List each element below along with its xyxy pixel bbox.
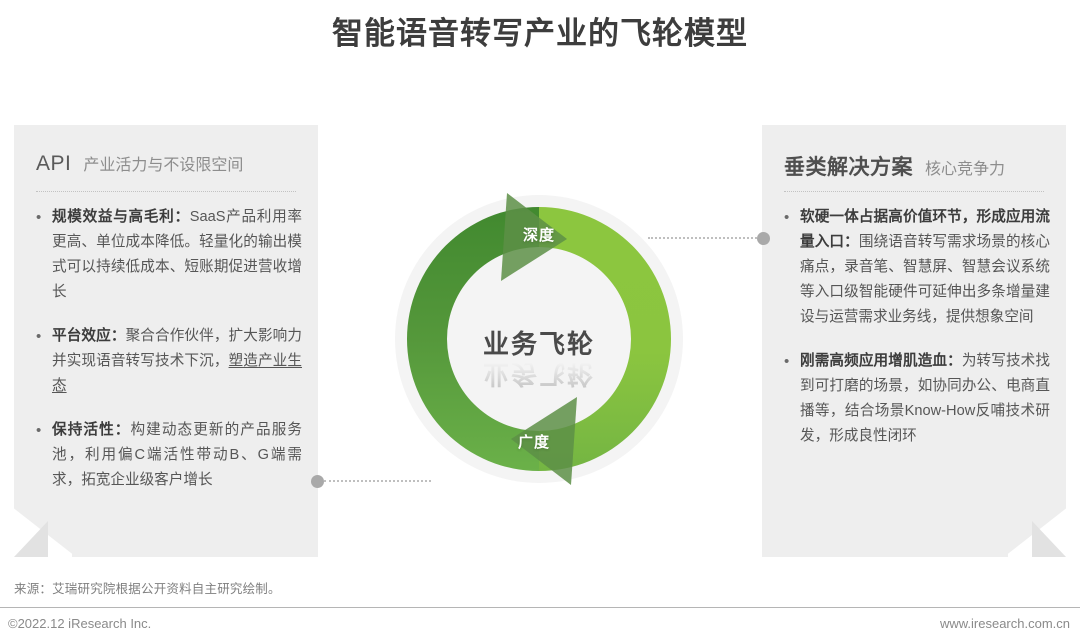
bullet-lead: 规模效益与高毛利： [52, 209, 190, 225]
right-panel-heading-main: 垂类解决方案 [784, 151, 913, 181]
connector-dot-icon [311, 475, 324, 488]
left-panel-divider [36, 191, 296, 192]
bullet-text: 平台效应：聚合合作伙伴，扩大影响力并实现语音转写技术下沉，塑造产业生态 [52, 324, 302, 399]
bullet-text: 规模效益与高毛利：SaaS产品利用率更高、单位成本降低。轻量化的输出模式可以持续… [52, 205, 302, 305]
left-panel-heading-main: API [36, 152, 71, 176]
flywheel-bottom-arrow-label: 广度 [494, 431, 574, 452]
slide-canvas: 智能语音转写产业的飞轮模型 API 产业活力与不设限空间 • 规模效益与高毛利：… [0, 0, 1080, 643]
copyright-text: ©2022.12 iResearch Inc. [8, 616, 151, 631]
left-panel-heading-sub: 产业活力与不设限空间 [83, 151, 243, 175]
bullet-marker-icon: • [36, 324, 52, 399]
bullet-text: 保持活性：构建动态更新的产品服务池，利用偏C端活性带动B、G端需求，拓宽企业级客… [52, 418, 302, 493]
bullet-lead: 保持活性： [52, 422, 130, 438]
bullet-marker-icon: • [784, 349, 800, 449]
panel-corner-fold [1008, 499, 1066, 557]
connector-dot-icon [757, 232, 770, 245]
left-panel-bullet-list: • 规模效益与高毛利：SaaS产品利用率更高、单位成本降低。轻量化的输出模式可以… [36, 205, 302, 512]
footer-divider [0, 607, 1080, 608]
website-link[interactable]: www.iresearch.com.cn [940, 616, 1070, 631]
right-panel-header: 垂类解决方案 核心竞争力 [784, 151, 1048, 181]
list-item: • 规模效益与高毛利：SaaS产品利用率更高、单位成本降低。轻量化的输出模式可以… [36, 205, 302, 305]
bullet-lead: 平台效应： [52, 328, 126, 344]
bullet-marker-icon: • [784, 205, 800, 330]
bullet-lead: 刚需高频应用增肌造血： [800, 353, 962, 369]
flywheel-top-arrow-label: 深度 [499, 224, 579, 245]
left-panel-header: API 产业活力与不设限空间 [36, 151, 300, 176]
right-panel-heading-sub: 核心竞争力 [925, 155, 1005, 179]
bullet-text: 软硬一体占据高价值环节，形成应用流量入口：围绕语音转写需求场景的核心痛点，录音笔… [800, 205, 1050, 330]
source-note: 来源：艾瑞研究院根据公开资料自主研究绘制。 [14, 578, 281, 597]
bullet-marker-icon: • [36, 418, 52, 493]
right-panel-divider [784, 191, 1044, 192]
list-item: • 刚需高频应用增肌造血：为转写技术找到可打磨的场景，如协同办公、电商直播等，结… [784, 349, 1050, 449]
left-panel-api: API 产业活力与不设限空间 • 规模效益与高毛利：SaaS产品利用率更高、单位… [14, 125, 318, 557]
flywheel-center-label-reflection: 业务飞轮 [389, 359, 689, 389]
page-title: 智能语音转写产业的飞轮模型 [0, 12, 1080, 56]
right-panel-vertical-solutions: 垂类解决方案 核心竞争力 • 软硬一体占据高价值环节，形成应用流量入口：围绕语音… [762, 125, 1066, 557]
list-item: • 保持活性：构建动态更新的产品服务池，利用偏C端活性带动B、G端需求，拓宽企业… [36, 418, 302, 493]
flywheel-center-label: 业务飞轮 [389, 329, 689, 359]
bullet-marker-icon: • [36, 205, 52, 305]
flywheel-diagram: 深度 广度 业务飞轮 业务飞轮 [389, 189, 689, 489]
bullet-text: 刚需高频应用增肌造血：为转写技术找到可打磨的场景，如协同办公、电商直播等，结合场… [800, 349, 1050, 449]
list-item: • 平台效应：聚合合作伙伴，扩大影响力并实现语音转写技术下沉，塑造产业生态 [36, 324, 302, 399]
right-panel-bullet-list: • 软硬一体占据高价值环节，形成应用流量入口：围绕语音转写需求场景的核心痛点，录… [784, 205, 1050, 468]
list-item: • 软硬一体占据高价值环节，形成应用流量入口：围绕语音转写需求场景的核心痛点，录… [784, 205, 1050, 330]
